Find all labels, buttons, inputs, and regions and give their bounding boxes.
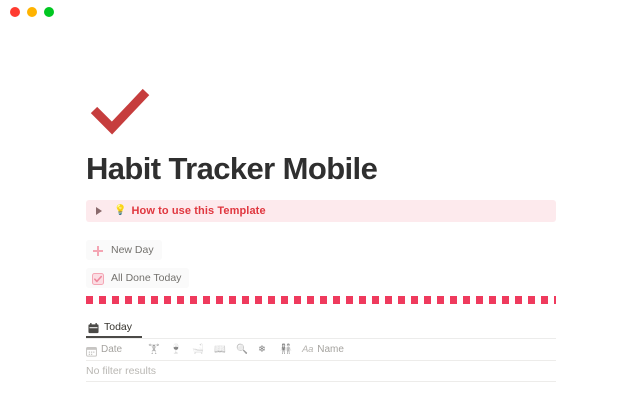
new-day-button[interactable]: New Day <box>86 240 162 260</box>
tab-today[interactable]: Today <box>86 317 142 338</box>
column-header-date-label: Date <box>101 344 122 355</box>
tab-today-label: Today <box>104 321 132 333</box>
checkmark-icon <box>86 84 166 140</box>
column-header-bathtub[interactable]: 🛁 <box>192 339 214 360</box>
people-icon: 👫 <box>280 344 292 355</box>
dashed-divider <box>86 296 556 304</box>
dumbbell-icon: 🏋 <box>148 344 160 355</box>
checkbox-icon <box>92 272 104 284</box>
column-header-search[interactable]: 🔍 <box>236 339 258 360</box>
toggle-triangle-icon[interactable] <box>94 205 106 217</box>
books-icon: 📖 <box>214 344 226 355</box>
close-button[interactable] <box>10 7 20 17</box>
text-type-icon: Aa <box>302 344 313 355</box>
traffic-lights <box>10 7 54 17</box>
bathtub-icon: 🛁 <box>192 344 204 355</box>
column-header-name-label: Name <box>317 344 344 355</box>
search-icon: 🔍 <box>236 344 248 355</box>
page-title: Habit Tracker Mobile <box>86 150 558 194</box>
action-buttons: New Day All Done Today <box>86 240 558 288</box>
database-tabbar: Today <box>86 316 556 339</box>
column-header-name[interactable]: Aa Name <box>302 339 392 360</box>
column-header-wine-glass[interactable]: 🍷 <box>170 339 192 360</box>
how-to-use-template-toggle[interactable]: 💡 How to use this Template <box>86 200 556 222</box>
page-canvas: Habit Tracker Mobile 💡 How to use this T… <box>0 24 640 400</box>
snowflake-icon: ❄ <box>258 344 266 355</box>
column-header-dumbbell[interactable]: 🏋 <box>148 339 170 360</box>
all-done-today-label: All Done Today <box>111 272 181 284</box>
plus-icon <box>92 244 104 256</box>
window-titlebar <box>0 0 640 24</box>
column-header-snowflake[interactable]: ❄ <box>258 339 280 360</box>
habit-table: Date 🏋 🍷 🛁 📖 🔍 ❄ <box>86 339 556 382</box>
column-header-books[interactable]: 📖 <box>214 339 236 360</box>
maximize-button[interactable] <box>44 7 54 17</box>
new-day-label: New Day <box>111 244 154 256</box>
calendar-icon <box>88 321 99 332</box>
column-header-date[interactable]: Date <box>86 339 148 360</box>
all-done-today-button[interactable]: All Done Today <box>86 268 189 288</box>
callout-label: How to use this Template <box>131 205 265 217</box>
table-header-row: Date 🏋 🍷 🛁 📖 🔍 ❄ <box>86 339 556 361</box>
wine-glass-icon: 🍷 <box>170 344 182 355</box>
no-filter-results-text: No filter results <box>86 365 156 377</box>
table-empty-row: No filter results <box>86 361 556 382</box>
minimize-button[interactable] <box>27 7 37 17</box>
page-content: Habit Tracker Mobile 💡 How to use this T… <box>86 84 558 382</box>
lightbulb-icon: 💡 <box>114 206 126 216</box>
column-header-people[interactable]: 👫 <box>280 339 302 360</box>
calendar-icon <box>86 344 97 355</box>
